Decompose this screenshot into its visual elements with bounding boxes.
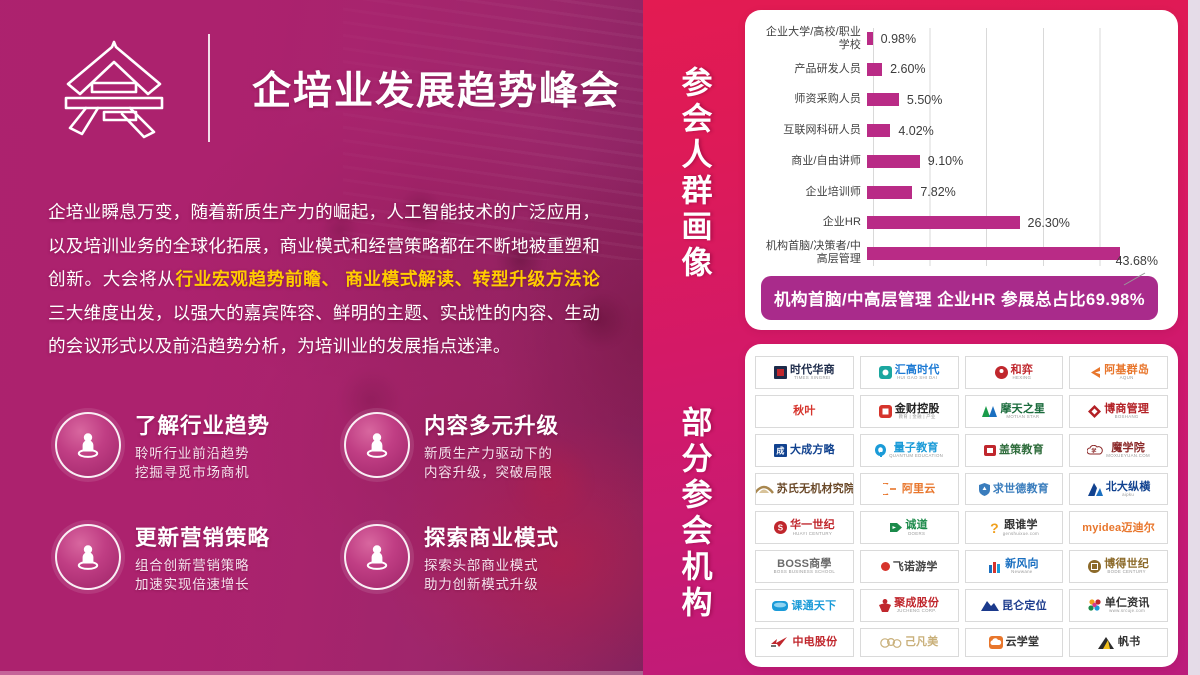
chart-bar-wrap: 9.10% (867, 154, 1164, 168)
partner-logo-name: 大成方略 (790, 444, 835, 456)
chart-category-label: 互联网科研人员 (755, 124, 867, 137)
chart-bar (867, 247, 1120, 260)
partner-logo-cell[interactable]: 中电股份 (755, 628, 854, 657)
chart-bar-wrap: 4.02% (867, 124, 1164, 138)
partner-logo-cell[interactable]: 课通天下 (755, 589, 854, 622)
person-in-circle-icon (344, 412, 410, 478)
feature-title: 了解行业趋势 (135, 413, 270, 439)
orange-question-icon: ? (989, 521, 1000, 535)
tan-arc-icon (755, 484, 774, 494)
partner-logo-cell[interactable]: 诚道DOERS (860, 511, 959, 544)
red-diamond-icon (1088, 405, 1101, 418)
partner-logo-cell[interactable]: 新风向Newwane (965, 550, 1064, 583)
partner-logo-cell[interactable]: 成大成方略 (755, 434, 854, 467)
partner-logo-cell[interactable]: 博得世纪BODE CENTURY (1069, 550, 1168, 583)
partner-logo-name: 己凡美 (905, 636, 939, 648)
square-dark-icon (774, 366, 787, 379)
red-flag-icon (771, 637, 789, 648)
partner-logo-cell[interactable]: 博商管理BOSHANG (1069, 395, 1168, 428)
callout-leader-line (1116, 272, 1146, 286)
partner-logo-cell[interactable]: 飞诺游学 (860, 550, 959, 583)
partner-logo-cell[interactable]: myidea迈迪尔 (1069, 511, 1168, 544)
chart-value-label: 26.30% (1028, 216, 1070, 230)
partner-logo-name: 华一世纪 (790, 519, 835, 531)
chart-bar-row: 企业培训师7.82% (755, 180, 1164, 205)
partner-logo-cell[interactable]: 帆书 (1069, 628, 1168, 657)
partner-logo-subtitle: BOSS BUSINESS SCHOOL (774, 570, 835, 575)
dots-cluster-icon (1088, 599, 1102, 613)
svg-text:学: 学 (1092, 448, 1097, 455)
partner-logo-cell[interactable]: 时代华商TIMES XINGREI (755, 356, 854, 389)
partner-logo-cell[interactable]: 北大纵横aipku (1069, 473, 1168, 506)
rings-icon (880, 638, 902, 648)
partner-logo-name: 魔学院 (1111, 442, 1145, 454)
partner-logo-cell[interactable]: 聚成股份JUCHENG CORP. (860, 589, 959, 622)
feature-desc-line2: 加速实现倍速增长 (135, 575, 270, 594)
feature-card[interactable]: 探索商业模式 探索头部商业模式 助力创新模式升级 (344, 524, 615, 594)
chart-category-label: 机构首脑/决策者/中高层管理 (755, 240, 867, 266)
partner-logo-cell[interactable]: 求世德教育 (965, 473, 1064, 506)
chart-value-label: 2.60% (890, 62, 925, 76)
feature-desc-line1: 新质生产力驱动下的 (424, 444, 559, 463)
feature-desc-line2: 挖掘寻觅市场商机 (135, 463, 270, 482)
partner-logo-name: 昆仑定位 (1002, 600, 1047, 612)
red-circle-icon (995, 366, 1008, 379)
page-title: 企培业发展趋势峰会 (252, 60, 621, 116)
partner-logo-name: 盖策教育 (999, 444, 1044, 456)
partner-logo-subtitle: aipku (1122, 493, 1134, 498)
partner-logo-name: 秋叶 (793, 405, 815, 417)
partner-logo-cell[interactable]: ?跟谁学genshuixue.com (965, 511, 1064, 544)
chart-category-label: 产品研发人员 (755, 63, 867, 76)
chart-bar (867, 216, 1020, 229)
gold-circle-icon (1088, 560, 1101, 573)
blue-a-icon (1087, 483, 1103, 496)
orange-cloud-icon (989, 636, 1003, 649)
partner-logo-grid: 时代华商TIMES XINGREI汇高时代HUI GAO SHI DAI和弈HE… (755, 356, 1168, 657)
red-dot-icon (881, 562, 890, 571)
poster-page: 企培业发展趋势峰会 企培业瞬息万变，随着新质生产力的崛起，人工智能技术的广泛应用… (0, 0, 1200, 675)
partner-logo-subtitle: HEXING (1013, 376, 1032, 381)
poster-header: 企培业发展趋势峰会 (0, 0, 643, 176)
partner-logo-name: 云学堂 (1006, 636, 1040, 648)
partner-logo-name: 求世德教育 (993, 483, 1049, 495)
feature-desc-line2: 内容升级，突破局限 (424, 463, 559, 482)
chart-bar-row: 互联网科研人员4.02% (755, 118, 1164, 143)
feature-title: 更新营销策略 (135, 525, 270, 551)
partner-logo-subtitle: BODE CENTURY (1107, 570, 1145, 575)
audience-chart-card: 企业大学/高校/职业学校0.98%产品研发人员2.60%师资采购人员5.50%互… (745, 10, 1178, 330)
chart-value-label: 4.02% (898, 124, 933, 138)
feature-desc-line2: 助力创新模式升级 (424, 575, 559, 594)
blue-square-icon: 成 (774, 444, 787, 457)
blue-bars-icon (989, 561, 1002, 573)
chart-bar-row: 产品研发人员2.60% (755, 57, 1164, 82)
partner-logo-subtitle: HUI GAO SHI DAI (897, 376, 937, 381)
feature-desc-line1: 组合创新营销策略 (135, 556, 270, 575)
partner-logo-cell[interactable]: 汇高时代HUI GAO SHI DAI (860, 356, 959, 389)
partner-logo-cell[interactable]: 金财控股教育 | 金融 | 产业 (860, 395, 959, 428)
chart-bar-wrap: 26.30% (867, 216, 1164, 230)
feature-desc-line1: 探索头部商业模式 (424, 556, 559, 575)
partner-logo-name: 量子教育 (894, 442, 939, 454)
chart-bar-row: 商业/自由讲师9.10% (755, 149, 1164, 174)
partner-logo-name: myidea迈迪尔 (1082, 522, 1155, 534)
partner-logo-subtitle: Newwane (1011, 570, 1032, 575)
chart-bar (867, 93, 899, 106)
partner-logo-cell[interactable]: 秋叶 (755, 395, 854, 428)
section-label-audience: 参会人群画像 (679, 66, 710, 282)
partner-logo-subtitle: JUCHENG CORP. (897, 609, 937, 614)
svg-text:成: 成 (776, 445, 784, 455)
yellow-tent-icon (1097, 637, 1115, 649)
chart-category-label: 企业大学/高校/职业学校 (755, 26, 867, 52)
orange-wedge-icon (1088, 366, 1101, 379)
chart-bar-row: 机构首脑/决策者/中高层管理 (755, 241, 1164, 266)
partner-logo-cell[interactable]: 和弈HEXING (965, 356, 1064, 389)
partner-logo-subtitle: MOTIAN STAR (1006, 415, 1039, 420)
partner-logo-name: 帆书 (1118, 636, 1140, 648)
chart-bar (867, 155, 920, 168)
chart-bar-row: 师资采购人员5.50% (755, 87, 1164, 112)
green-mountain-icon (982, 406, 997, 417)
chart-callout-value: 43.68% (1116, 254, 1158, 268)
partner-logo-subtitle: www.srcuje.com (1109, 609, 1145, 614)
partner-logo-subtitle: genshuixue.com (1003, 532, 1039, 537)
feature-desc-line1: 聆听行业前沿趋势 (135, 444, 270, 463)
partner-logo-subtitle: TIMES XINGREI (794, 376, 831, 381)
partner-logo-name: 北大纵横 (1106, 481, 1151, 493)
right-edge-strip (1188, 0, 1200, 675)
partner-logo-cell[interactable]: BOSS商學BOSS BUSINESS SCHOOL (755, 550, 854, 583)
partner-logo-cell[interactable]: 学魔学院MOXUEYUAN.COM (1069, 434, 1168, 467)
chart-bar-wrap: 2.60% (867, 62, 1164, 76)
partner-logo-subtitle: AQUN (1120, 376, 1134, 381)
red-rounded-icon (879, 405, 892, 418)
partner-logo-cell[interactable]: 单仁资讯www.srcuje.com (1069, 589, 1168, 622)
header-divider (208, 34, 210, 142)
person-in-circle-icon (55, 524, 121, 590)
teal-rounded-icon (879, 366, 892, 379)
feature-card[interactable]: 了解行业趋势 聆听行业前沿趋势 挖掘寻觅市场商机 (55, 412, 326, 482)
chart-bar-wrap: 7.82% (867, 185, 1164, 199)
partner-logo-name: 飞诺游学 (893, 561, 938, 573)
partner-logo-name: 诚道 (905, 519, 927, 531)
vertical-label-rail: 参会人群画像 部分参会机构 (643, 10, 745, 667)
chart-value-label: 7.82% (920, 185, 955, 199)
bottom-divider (0, 671, 643, 675)
partner-logo-cell[interactable]: S华一世纪HUAYI CENTURY (755, 511, 854, 544)
intro-highlight: 行业宏观趋势前瞻、 商业模式解读、转型升级方法论 (176, 269, 600, 289)
blue-q-icon (875, 444, 886, 457)
partner-logo-cell[interactable]: 阿基群岛AQUN (1069, 356, 1168, 389)
feature-card[interactable]: 内容多元升级 新质生产力驱动下的 内容升级，突破局限 (344, 412, 615, 482)
chart-bar (867, 32, 873, 45)
chart-bar-row: 企业HR26.30% (755, 210, 1164, 235)
partner-logo-name: 阿里云 (902, 483, 936, 495)
blue-shield-icon (979, 483, 990, 496)
intro-paragraph: 企培业瞬息万变，随着新质生产力的崛起，人工智能技术的广泛应用，以及培训业务的全球… (48, 196, 600, 364)
chart-category-label: 师资采购人员 (755, 93, 867, 106)
chart-value-label: 0.98% (881, 32, 916, 46)
section-label-organizations: 部分参会机构 (679, 406, 710, 622)
svg-text:S: S (778, 524, 784, 533)
orange-bracket-icon (883, 483, 899, 495)
partner-logo-cell[interactable]: 摩天之星MOTIAN STAR (965, 395, 1064, 428)
blue-peak-icon (981, 600, 999, 611)
chart-bar-row: 企业大学/高校/职业学校0.98% (755, 26, 1164, 51)
left-panel: 企培业发展趋势峰会 企培业瞬息万变，随着新质生产力的崛起，人工智能技术的广泛应用… (0, 0, 643, 675)
partner-logo-subtitle: HUAYI CENTURY (793, 532, 832, 537)
green-arrow-icon (890, 523, 902, 532)
blue-band-icon (772, 601, 788, 611)
partner-logo-cell[interactable]: 阿里云 (860, 473, 959, 506)
person-in-circle-icon (55, 412, 121, 478)
chart-value-label: 9.10% (928, 154, 963, 168)
partner-logo-name: 中电股份 (792, 636, 837, 648)
partner-logo-cell[interactable]: 量子教育QUANTUM EDUCATION (860, 434, 959, 467)
chart-bar (867, 63, 882, 76)
partner-logo-subtitle: 教育 | 金融 | 产业 (899, 415, 936, 420)
feature-title: 探索商业模式 (424, 525, 559, 551)
partner-logo-cell[interactable]: 昆仑定位 (965, 589, 1064, 622)
partner-logo-name: 课通天下 (791, 600, 836, 612)
partner-logo-subtitle: DOERS (908, 532, 925, 537)
feature-list: 了解行业趋势 聆听行业前沿趋势 挖掘寻觅市场商机 内容多元升级 新质生产力驱动下… (55, 412, 615, 594)
right-panel: 参会人群画像 部分参会机构 企业大学/高校/职业学校0.98%产品研发人员2.6… (643, 0, 1200, 675)
chart-bar-wrap: 5.50% (867, 93, 1164, 107)
chart-bar (867, 124, 890, 137)
partner-logo-cell[interactable]: 己凡美 (860, 628, 959, 657)
partner-logo-subtitle: BOSHANG (1115, 415, 1139, 420)
partner-logo-name: 跟谁学 (1004, 519, 1038, 531)
person-in-circle-icon (344, 524, 410, 590)
hui-character-logo (58, 36, 170, 140)
chart-bar-wrap: 0.98% (867, 32, 1164, 46)
feature-card[interactable]: 更新营销策略 组合创新营销策略 加速实现倍速增长 (55, 524, 326, 594)
partner-logos-card: 时代华商TIMES XINGREI汇高时代HUI GAO SHI DAI和弈HE… (745, 344, 1178, 667)
red-square-top-icon (984, 445, 996, 456)
chart-category-label: 企业HR (755, 216, 867, 229)
chart-value-label: 5.50% (907, 93, 942, 107)
partner-logo-subtitle: MOXUEYUAN.COM (1106, 454, 1150, 459)
cloud-outline-icon: 学 (1087, 445, 1103, 455)
svg-text:?: ? (990, 521, 999, 535)
red-figure-icon (879, 599, 891, 612)
intro-part2: 三大维度出发，以强大的嘉宾阵容、鲜明的主题、实战性的内容、生动的会议形式以及前沿… (48, 303, 600, 357)
chart-category-label: 企业培训师 (755, 186, 867, 199)
partner-logo-subtitle: QUANTUM EDUCATION (889, 454, 943, 459)
partner-logo-cell[interactable]: 盖策教育 (965, 434, 1064, 467)
chart-bar (867, 186, 912, 199)
red-s-circle-icon: S (774, 521, 787, 534)
partner-logo-name: 苏氏无机材究院 (777, 483, 854, 495)
partner-logo-cell[interactable]: 苏氏无机材究院 (755, 473, 854, 506)
audience-summary-banner: 机构首脑/中高层管理 企业HR 参展总占比69.98% (761, 276, 1158, 320)
partner-logo-cell[interactable]: 云学堂 (965, 628, 1064, 657)
feature-title: 内容多元升级 (424, 413, 559, 439)
audience-bar-chart: 企业大学/高校/职业学校0.98%产品研发人员2.60%师资采购人员5.50%互… (755, 26, 1164, 268)
chart-category-label: 商业/自由讲师 (755, 155, 867, 168)
